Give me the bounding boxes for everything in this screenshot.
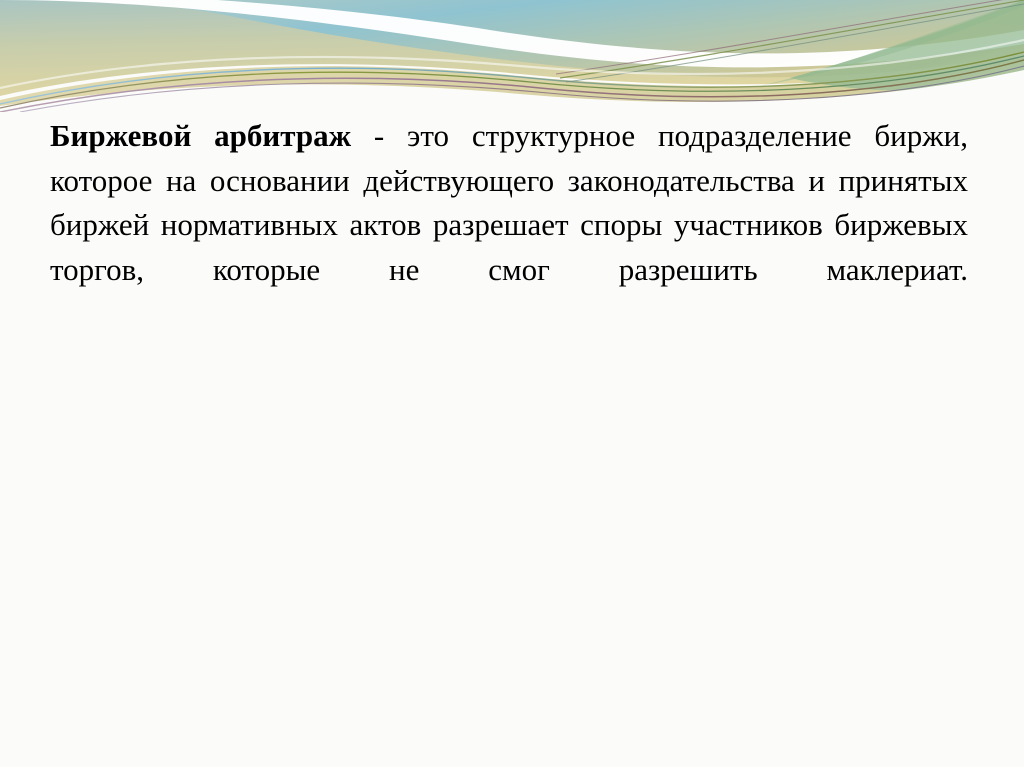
- wave-accent-line-plum: [20, 66, 1024, 112]
- wave-base-shape: [0, 0, 1024, 96]
- wave-accent-line-diagonal-green: [566, 4, 1024, 82]
- lead-term: Биржевой арбитраж: [50, 118, 351, 153]
- wave-accent-line-olive: [0, 56, 1024, 108]
- wave-accent-line-mauve: [0, 60, 1024, 112]
- presentation-slide: Биржевой арбитраж - это структурное подр…: [0, 0, 1024, 767]
- wave-tan-band: [0, 58, 1024, 112]
- wave-teal-band: [0, 0, 1024, 77]
- wave-white-base: [0, 70, 1024, 112]
- wave-white-swoosh-upper: [0, 0, 1024, 67]
- wave-accent-line-blue: [0, 52, 1024, 104]
- slide-body-text: Биржевой арбитраж - это структурное подр…: [50, 114, 968, 337]
- wave-accent-line-diagonal-mauve: [556, 0, 1024, 74]
- wave-banner-graphic: [0, 0, 1024, 112]
- wave-accent-line-diagonal-olive: [560, 0, 1024, 78]
- wave-green-band-2: [760, 0, 1024, 86]
- decorative-wave-banner: [0, 0, 1024, 112]
- wave-highlight-curve: [0, 40, 1024, 88]
- wave-green-band: [790, 0, 1024, 91]
- body-paragraph: Биржевой арбитраж - это структурное подр…: [50, 114, 968, 337]
